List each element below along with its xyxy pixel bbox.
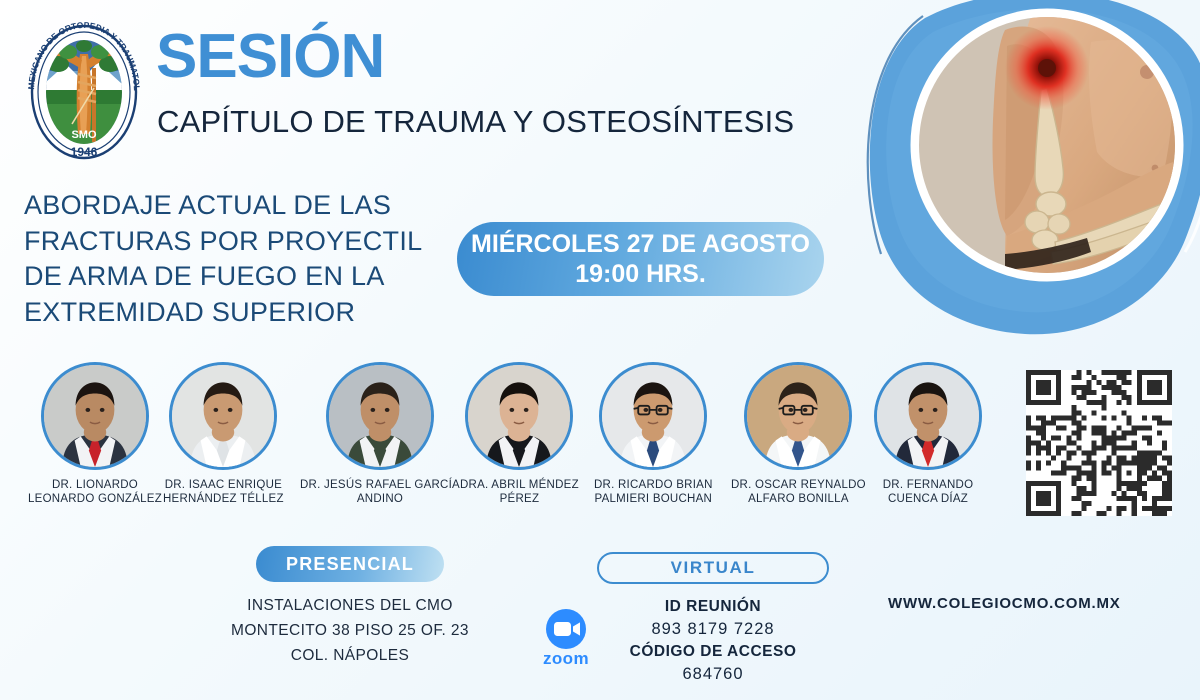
speaker-avatar (599, 362, 707, 470)
logo-initials: SMO (71, 129, 97, 141)
topic-line: ABORDAJE ACTUAL DE LAS (24, 188, 444, 224)
speaker-list: DR. LIONARDOLEONARDO GONZÁLEZDR. ISAAC E… (0, 362, 1200, 537)
speaker-avatar (326, 362, 434, 470)
cmo-logo: COLEGIO MEXICANO DE ORTOPEDIA Y TRAUMATO… (22, 16, 146, 168)
topic-line: FRACTURAS POR PROYECTIL (24, 224, 444, 260)
speaker-name: DR. JESÚS RAFAEL GARCÍAANDINO (300, 478, 460, 507)
zoom-wordmark: zoom (543, 649, 589, 668)
speaker-name: DR. FERNANDOCUENCA DÍAZ (874, 478, 982, 507)
passcode-value: 684760 (590, 663, 836, 686)
speaker-name-line: DR. OSCAR REYNALDO (731, 478, 866, 492)
date-text: MIÉRCOLES 27 DE AGOSTO (471, 229, 810, 260)
speaker-avatar (744, 362, 852, 470)
date-time-badge: MIÉRCOLES 27 DE AGOSTO 19:00 HRS. (457, 222, 824, 296)
speaker-name-line: HERNÁNDEZ TÉLLEZ (163, 492, 284, 506)
speaker-card: DR. FERNANDOCUENCA DÍAZ (874, 362, 982, 507)
meeting-id-value: 893 8179 7228 (590, 618, 836, 641)
virtual-badge: VIRTUAL (597, 552, 829, 584)
page-title: SESIÓN (156, 26, 384, 88)
hero-graphic (855, 0, 1200, 350)
topic-line: DE ARMA DE FUEGO EN LA (24, 259, 444, 295)
speaker-name: DRA. ABRIL MÉNDEZPÉREZ (460, 478, 579, 507)
logo-year: 1946 (71, 145, 98, 159)
speaker-card: DRA. ABRIL MÉNDEZPÉREZ (460, 362, 579, 507)
speaker-name-line: CUENCA DÍAZ (874, 492, 982, 506)
speaker-avatar (874, 362, 982, 470)
speaker-name: DR. ISAAC ENRIQUEHERNÁNDEZ TÉLLEZ (163, 478, 284, 507)
website-url[interactable]: WWW.COLEGIOCMO.COM.MX (888, 595, 1121, 612)
in-person-badge: PRESENCIAL (256, 546, 444, 582)
speaker-name: DR. OSCAR REYNALDOALFARO BONILLA (731, 478, 866, 507)
poster-canvas: COLEGIO MEXICANO DE ORTOPEDIA Y TRAUMATO… (0, 0, 1200, 700)
speaker-name-line: DR. FERNANDO (874, 478, 982, 492)
speaker-card: DR. RICARDO BRIANPALMIERI BOUCHAN (594, 362, 713, 507)
time-text: 19:00 HRS. (575, 259, 706, 290)
speaker-name-line: LEONARDO GONZÁLEZ (28, 492, 162, 506)
speaker-name: DR. LIONARDOLEONARDO GONZÁLEZ (28, 478, 162, 507)
speaker-avatar (169, 362, 277, 470)
speaker-name: DR. RICARDO BRIANPALMIERI BOUCHAN (594, 478, 713, 507)
meeting-id-label: ID REUNIÓN (590, 596, 836, 618)
session-topic: ABORDAJE ACTUAL DE LAS FRACTURAS POR PRO… (24, 188, 444, 331)
speaker-name-line: DR. ISAAC ENRIQUE (163, 478, 284, 492)
venue-line: COL. NÁPOLES (210, 644, 490, 669)
qr-code[interactable] (1026, 370, 1172, 516)
speaker-card: DR. JESÚS RAFAEL GARCÍAANDINO (300, 362, 460, 507)
speaker-card: DR. LIONARDOLEONARDO GONZÁLEZ (28, 362, 162, 507)
virtual-details: ID REUNIÓN 893 8179 7228 CÓDIGO DE ACCES… (590, 596, 836, 687)
speaker-name-line: ANDINO (300, 492, 460, 506)
venue-line: INSTALACIONES DEL CMO (210, 594, 490, 619)
speaker-avatar (41, 362, 149, 470)
passcode-label: CÓDIGO DE ACCESO (590, 641, 836, 663)
speaker-card: DR. ISAAC ENRIQUEHERNÁNDEZ TÉLLEZ (163, 362, 284, 507)
speaker-name-line: DR. LIONARDO (28, 478, 162, 492)
speaker-name-line: ALFARO BONILLA (731, 492, 866, 506)
speaker-card: DR. OSCAR REYNALDOALFARO BONILLA (731, 362, 866, 507)
venue-address: INSTALACIONES DEL CMO MONTECITO 38 PISO … (210, 594, 490, 668)
speaker-name-line: PALMIERI BOUCHAN (594, 492, 713, 506)
speaker-name-line: PÉREZ (460, 492, 579, 506)
page-subtitle: CAPÍTULO DE TRAUMA Y OSTEOSÍNTESIS (157, 106, 794, 137)
speaker-avatar (465, 362, 573, 470)
venue-line: MONTECITO 38 PISO 25 OF. 23 (210, 619, 490, 644)
speaker-name-line: DR. JESÚS RAFAEL GARCÍA (300, 478, 460, 492)
topic-line: EXTREMIDAD SUPERIOR (24, 295, 444, 331)
speaker-name-line: DR. RICARDO BRIAN (594, 478, 713, 492)
speaker-name-line: DRA. ABRIL MÉNDEZ (460, 478, 579, 492)
